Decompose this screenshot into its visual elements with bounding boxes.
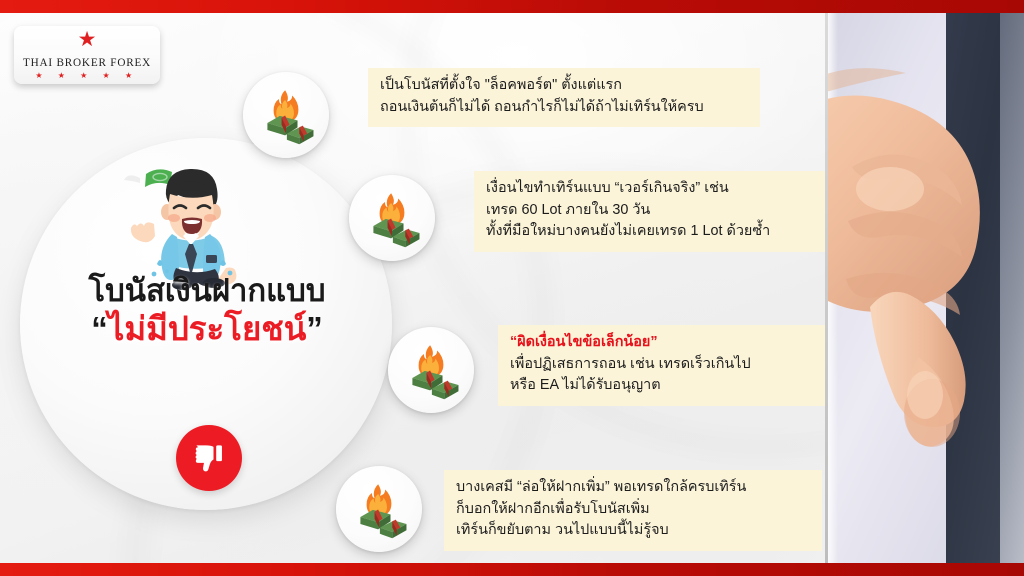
callout-2-line-2: เทรด 60 Lot ภายใน 30 วัน [486, 200, 826, 222]
infographic-canvas: ★ THAI BROKER FOREX ★ ★ ★ ★ ★ [0, 0, 1024, 576]
logo-rating-stars-icon: ★ ★ ★ ★ ★ [35, 71, 138, 80]
title-line-2: “ไม่มีประโยชน์” [22, 309, 392, 349]
callout-3-highlight: “ผิดเงื่อนไขข้อเล็กน้อย” [510, 332, 830, 354]
title-line-1: โบนัสเงินฝากแบบ [22, 272, 392, 309]
callout-3-line-1: เพื่อปฏิเสธการถอน เช่น เทรดเร็วเกินไป [510, 354, 830, 376]
page-title: โบนัสเงินฝากแบบ “ไม่มีประโยชน์” [22, 272, 392, 349]
burning-money-icon [349, 175, 435, 261]
title-highlight: ไม่มีประโยชน์ [108, 310, 307, 347]
bottom-red-bar [0, 563, 1024, 576]
title-close-quote: ” [306, 310, 323, 347]
thumbs-down-icon [191, 440, 227, 476]
callout-2-line-1: เงื่อนไขทำเทิร์นแบบ “เวอร์เกินจริง” เช่น [486, 178, 826, 200]
callout-3: “ผิดเงื่อนไขข้อเล็กน้อย” เพื่อปฏิเสธการถ… [498, 325, 842, 406]
callout-1-line-2: ถอนเงินต้นก็ไม่ได้ ถอนกำไรก็ไม่ได้ถ้าไม่… [380, 97, 748, 119]
title-open-quote: “ [91, 310, 108, 347]
callout-4: บางเคสมี “ล่อให้ฝากเพิ่ม” พอเทรดใกล้ครบเ… [444, 470, 822, 551]
brand-logo[interactable]: ★ THAI BROKER FOREX ★ ★ ★ ★ ★ [14, 26, 160, 84]
brand-name: THAI BROKER FOREX [23, 57, 151, 69]
callout-4-line-2: ก็บอกให้ฝากอีกเพื่อรับโบนัสเพิ่ม [456, 499, 810, 521]
thumbs-down-badge [176, 425, 242, 491]
photo-divider [825, 13, 828, 563]
callout-4-line-1: บางเคสมี “ล่อให้ฝากเพิ่ม” พอเทรดใกล้ครบเ… [456, 477, 810, 499]
hand-gesture-icon [828, 39, 1024, 509]
callout-2: เงื่อนไขทำเทิร์นแบบ “เวอร์เกินจริง” เช่น… [474, 171, 838, 252]
callout-1-line-1: เป็นโบนัสที่ตั้งใจ "ล็อคพอร์ต" ตั้งแต่แร… [380, 75, 748, 97]
burning-money-icon [336, 466, 422, 552]
thumbs-down-hand-photo [828, 13, 1024, 563]
callout-4-line-3: เทิร์นก็ขยับตาม วนไปแบบนี้ไม่รู้จบ [456, 520, 810, 542]
burning-money-icon [388, 327, 474, 413]
callout-1: เป็นโบนัสที่ตั้งใจ "ล็อคพอร์ต" ตั้งแต่แร… [368, 68, 760, 127]
callout-2-line-3: ทั้งที่มือใหม่บางคนยังไม่เคยเทรด 1 Lot ด… [486, 221, 826, 243]
logo-star-icon: ★ [78, 31, 97, 48]
top-red-bar [0, 0, 1024, 13]
burning-money-icon [243, 72, 329, 158]
callout-3-line-2: หรือ EA ไม่ได้รับอนุญาต [510, 375, 830, 397]
